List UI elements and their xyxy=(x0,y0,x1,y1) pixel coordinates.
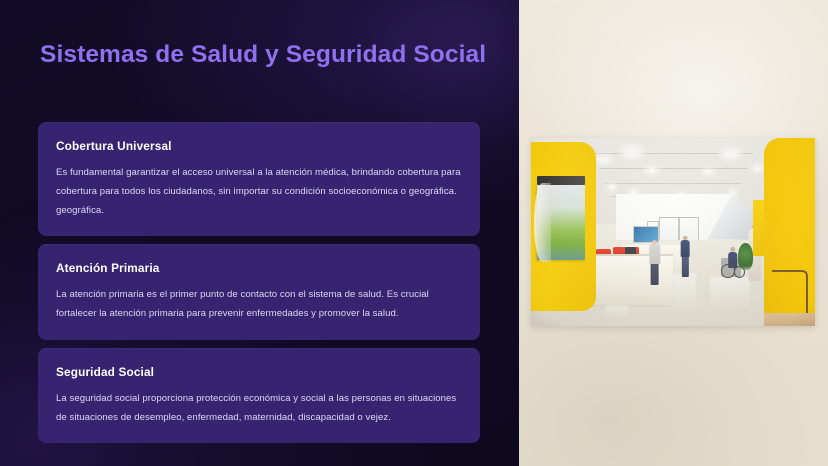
presentation-slide: Sistemas de Salud y Seguridad Social Cob… xyxy=(0,0,828,466)
handrail xyxy=(772,270,808,313)
card-title: Seguridad Social xyxy=(56,365,462,379)
left-content-panel: Sistemas de Salud y Seguridad Social Cob… xyxy=(0,0,519,466)
ceiling-seam xyxy=(605,183,741,184)
card-body: La atención primaria es el primer punto … xyxy=(56,286,461,323)
card-cobertura-universal[interactable]: Cobertura Universal Es fundamental garan… xyxy=(38,122,480,236)
cards-list: Cobertura Universal Es fundamental garan… xyxy=(38,122,480,443)
poster-curl xyxy=(534,183,551,262)
ceiling-seam xyxy=(599,168,747,169)
baseboard xyxy=(764,313,815,326)
clinic-lobby-image xyxy=(531,138,815,326)
card-body: Es fundamental garantizar el acceso univ… xyxy=(56,164,461,220)
ceiling-light-icon xyxy=(622,147,642,156)
floor-reflection xyxy=(605,303,628,318)
person-walking-door xyxy=(680,236,690,277)
card-title: Atención Primaria xyxy=(56,261,462,275)
floor-reflection xyxy=(710,277,750,311)
card-seguridad-social[interactable]: Seguridad Social La seguridad social pro… xyxy=(38,348,480,444)
page-title: Sistemas de Salud y Seguridad Social xyxy=(40,40,490,71)
ceiling-light-icon xyxy=(608,185,615,189)
ceiling-light-icon xyxy=(721,149,739,157)
ceiling-light-icon xyxy=(753,166,762,170)
potted-plant xyxy=(738,243,752,269)
card-title: Cobertura Universal xyxy=(56,139,462,153)
clinic-photo-frame xyxy=(531,138,815,326)
card-atencion-primaria[interactable]: Atención Primaria La atención primaria e… xyxy=(38,244,480,340)
yellow-wall-mid xyxy=(753,200,764,256)
right-image-panel xyxy=(519,0,828,466)
wheelchair-wheel xyxy=(721,264,734,278)
person-standing-desk xyxy=(647,240,661,285)
card-body: La seguridad social proporciona protecci… xyxy=(56,390,461,427)
